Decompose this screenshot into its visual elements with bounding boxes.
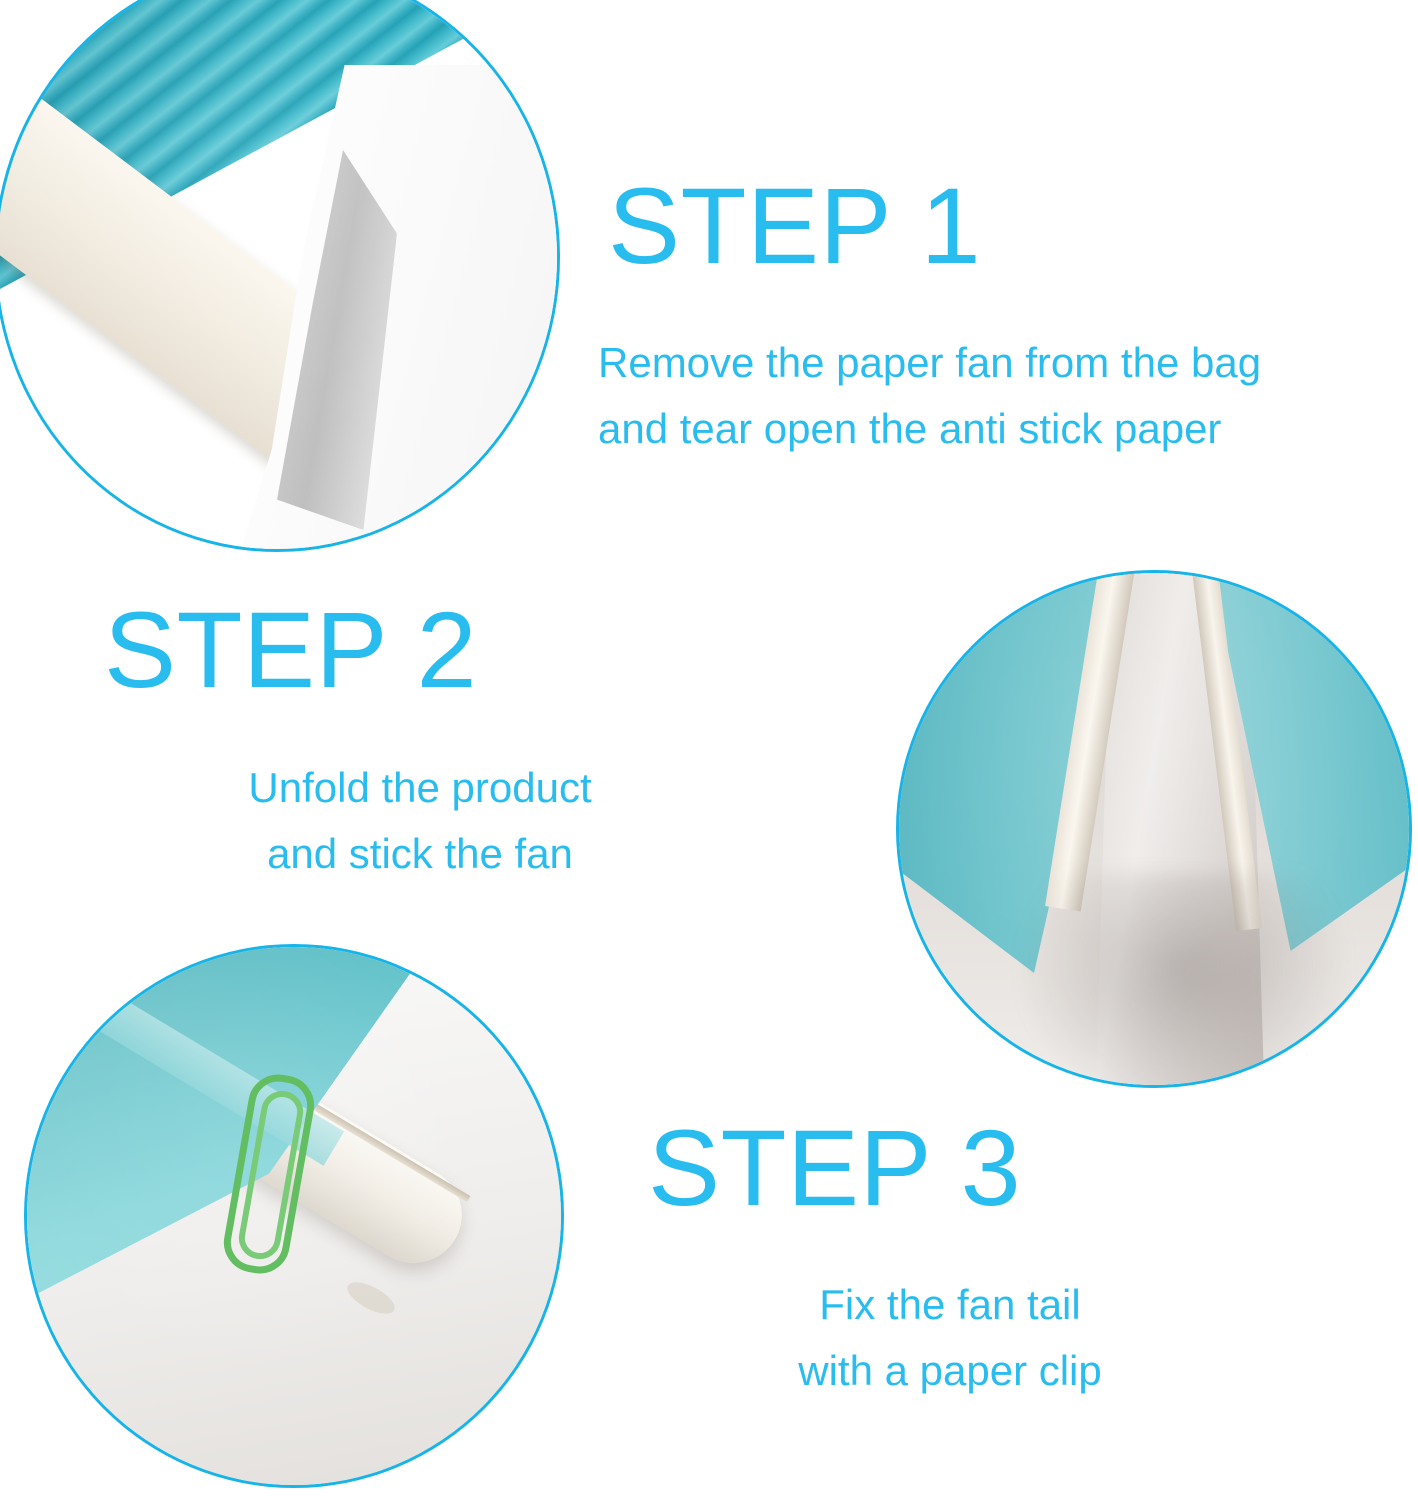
step-1-description-line-2: and tear open the anti stick paper [598, 396, 1261, 462]
step-2-photo-circle [896, 570, 1412, 1088]
step-2-heading: STEP 2 [104, 596, 477, 704]
step-3-description: Fix the fan tail with a paper clip [640, 1272, 1260, 1405]
step-1-description-line-1: Remove the paper fan from the bag [598, 330, 1261, 396]
step-2-photo-content [899, 573, 1409, 1085]
step-3-heading: STEP 3 [648, 1114, 1021, 1222]
instruction-graphic: STEP 1 Remove the paper fan from the bag… [0, 0, 1418, 1500]
step-3-description-line-1: Fix the fan tail [640, 1272, 1260, 1338]
step-3-description-line-2: with a paper clip [640, 1338, 1260, 1404]
step-1-photo-circle [0, 0, 560, 552]
step-2-description-line-1: Unfold the product [110, 755, 730, 821]
step-2-description: Unfold the product and stick the fan [110, 755, 730, 888]
step-1-description: Remove the paper fan from the bag and te… [598, 330, 1261, 463]
fan-cast-shadow-shape [1019, 873, 1349, 1085]
step-1-heading: STEP 1 [608, 172, 981, 280]
step-1-photo-content [0, 0, 557, 549]
step-2-description-line-2: and stick the fan [110, 821, 730, 887]
